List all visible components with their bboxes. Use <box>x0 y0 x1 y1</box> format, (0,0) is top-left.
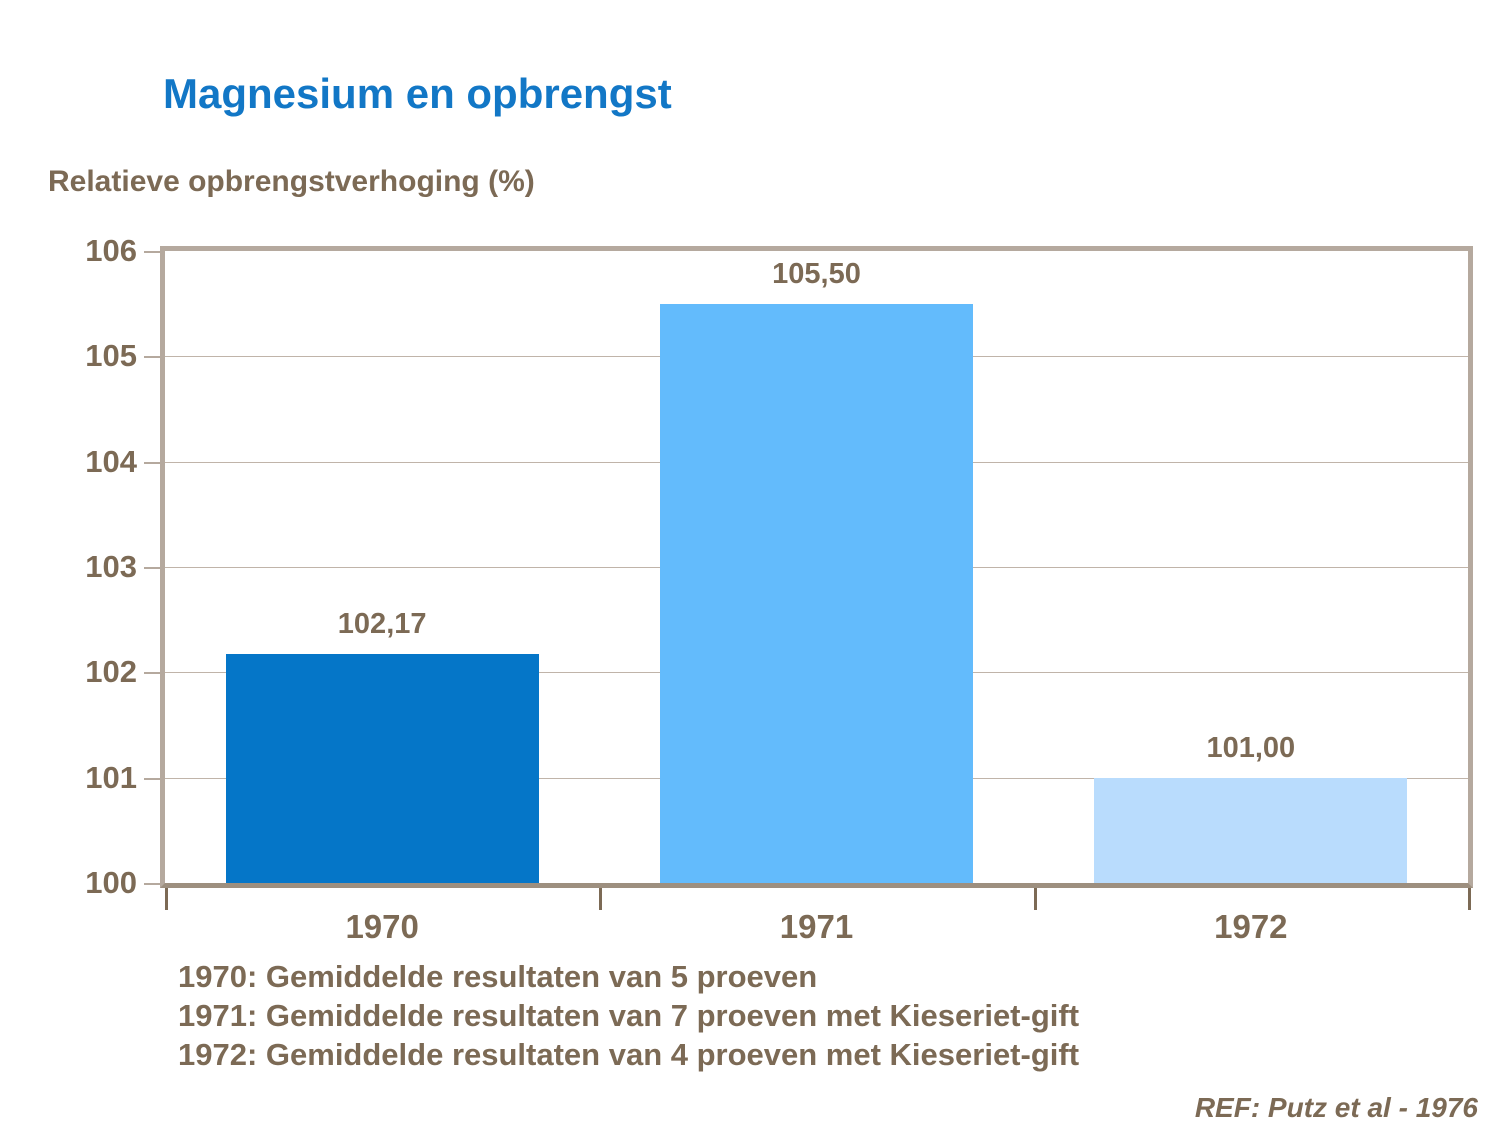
value-axis-label: 106 <box>85 233 137 269</box>
value-axis-tick <box>144 778 160 780</box>
value-axis-caption: Relatieve opbrengstverhoging (%) <box>48 165 535 199</box>
category-label-1971: 1971 <box>780 908 853 946</box>
value-axis-tick <box>144 462 160 464</box>
reference-note: REF: Putz et al - 1976 <box>1195 1092 1478 1124</box>
bar-value-label-1971: 105,50 <box>772 258 861 291</box>
footnote-line-2: 1971: Gemiddelde resultaten van 7 proeve… <box>178 996 1079 1035</box>
footnote-line-3: 1972: Gemiddelde resultaten van 4 proeve… <box>178 1035 1079 1074</box>
value-axis-tick <box>144 672 160 674</box>
value-axis-label: 105 <box>85 338 137 374</box>
value-axis-label: 104 <box>85 444 137 480</box>
bar-1971[interactable] <box>660 304 973 883</box>
category-separator-edge-left <box>165 888 168 910</box>
category-label-1972: 1972 <box>1214 908 1287 946</box>
value-axis-label: 102 <box>85 654 137 690</box>
category-label-1970: 1970 <box>345 908 418 946</box>
value-axis-label: 101 <box>85 760 137 796</box>
bar-1972[interactable] <box>1094 778 1407 883</box>
value-axis-label: 100 <box>85 865 137 901</box>
page-title: Magnesium en opbrengst <box>163 70 672 118</box>
value-axis-tick <box>144 251 160 253</box>
category-separator <box>1034 888 1037 910</box>
footnote-line-1: 1970: Gemiddelde resultaten van 5 proeve… <box>178 957 1079 996</box>
value-axis-label: 103 <box>85 549 137 585</box>
value-axis-tick <box>144 567 160 569</box>
bar-value-label-1972: 101,00 <box>1206 732 1295 765</box>
footnote-block: 1970: Gemiddelde resultaten van 5 proeve… <box>178 957 1079 1074</box>
category-separator <box>599 888 602 910</box>
bar-1970[interactable] <box>226 654 539 883</box>
value-axis-tick <box>144 356 160 358</box>
bar-value-label-1970: 102,17 <box>338 608 427 641</box>
value-axis-tick <box>144 883 160 885</box>
category-separator-edge-right <box>1468 888 1471 910</box>
